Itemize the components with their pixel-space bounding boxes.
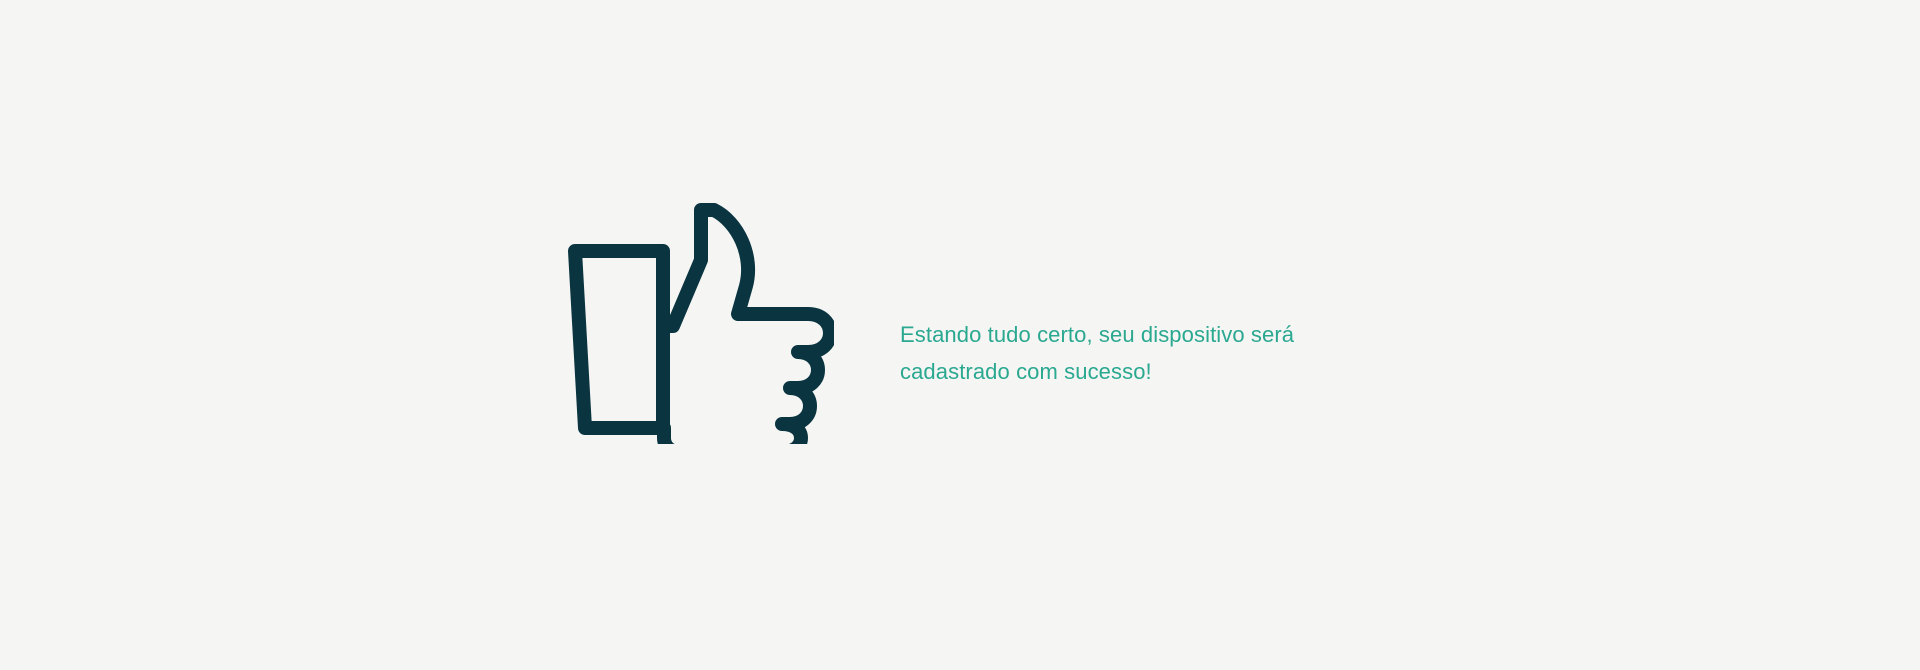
thumb-cuff-shape (575, 251, 663, 428)
success-message-line-2: cadastrado com sucesso! (900, 353, 1370, 390)
thumbs-up-icon-graphic (558, 196, 834, 444)
thumbs-up-icon (558, 196, 834, 444)
success-message: Estando tudo certo, seu dispositivo será… (900, 316, 1370, 390)
success-message-line-1: Estando tudo certo, seu dispositivo será (900, 316, 1370, 353)
success-confirmation-panel: Estando tudo certo, seu dispositivo será… (0, 0, 1920, 670)
thumb-hand-shape (663, 210, 830, 444)
